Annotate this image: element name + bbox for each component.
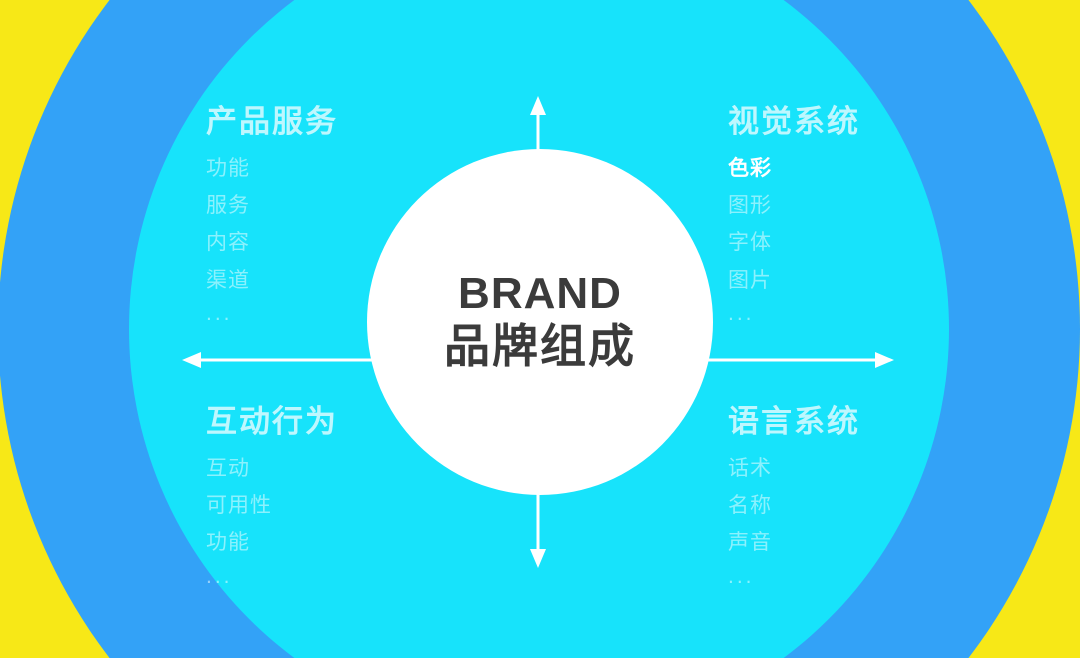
quadrant-product-title: 产品服务 [206,104,456,140]
quadrant-visual: 视觉系统 色彩 图形 字体 图片 ... [728,104,978,329]
quadrant-language-title: 语言系统 [728,404,978,440]
quadrant-visual-item: 字体 [728,224,978,261]
quadrant-visual-item: 图片 [728,262,978,299]
quadrant-language-item: 话术 [728,450,978,487]
quadrant-language-ellipsis: ... [728,562,978,591]
brand-composition-diagram: BRAND 品牌组成 产品服务 功能 服务 内容 渠道 ... 视觉系统 色彩 … [0,0,1080,658]
quadrant-behavior-item: 互动 [206,450,456,487]
quadrant-language: 语言系统 话术 名称 声音 ... [728,404,978,591]
quadrant-visual-ellipsis: ... [728,299,978,328]
quadrant-behavior-item: 功能 [206,524,456,561]
quadrant-language-item: 声音 [728,524,978,561]
quadrant-visual-title: 视觉系统 [728,104,978,140]
quadrant-behavior-ellipsis: ... [206,562,456,591]
core-english-title: BRAND [458,271,622,317]
quadrant-visual-item-highlighted: 色彩 [728,150,978,187]
quadrant-behavior-item: 可用性 [206,487,456,524]
quadrant-product-item: 功能 [206,150,456,187]
quadrant-visual-item: 图形 [728,187,978,224]
core-chinese-title: 品牌组成 [444,320,636,373]
core-circle: BRAND 品牌组成 [367,149,713,495]
quadrant-language-item: 名称 [728,487,978,524]
